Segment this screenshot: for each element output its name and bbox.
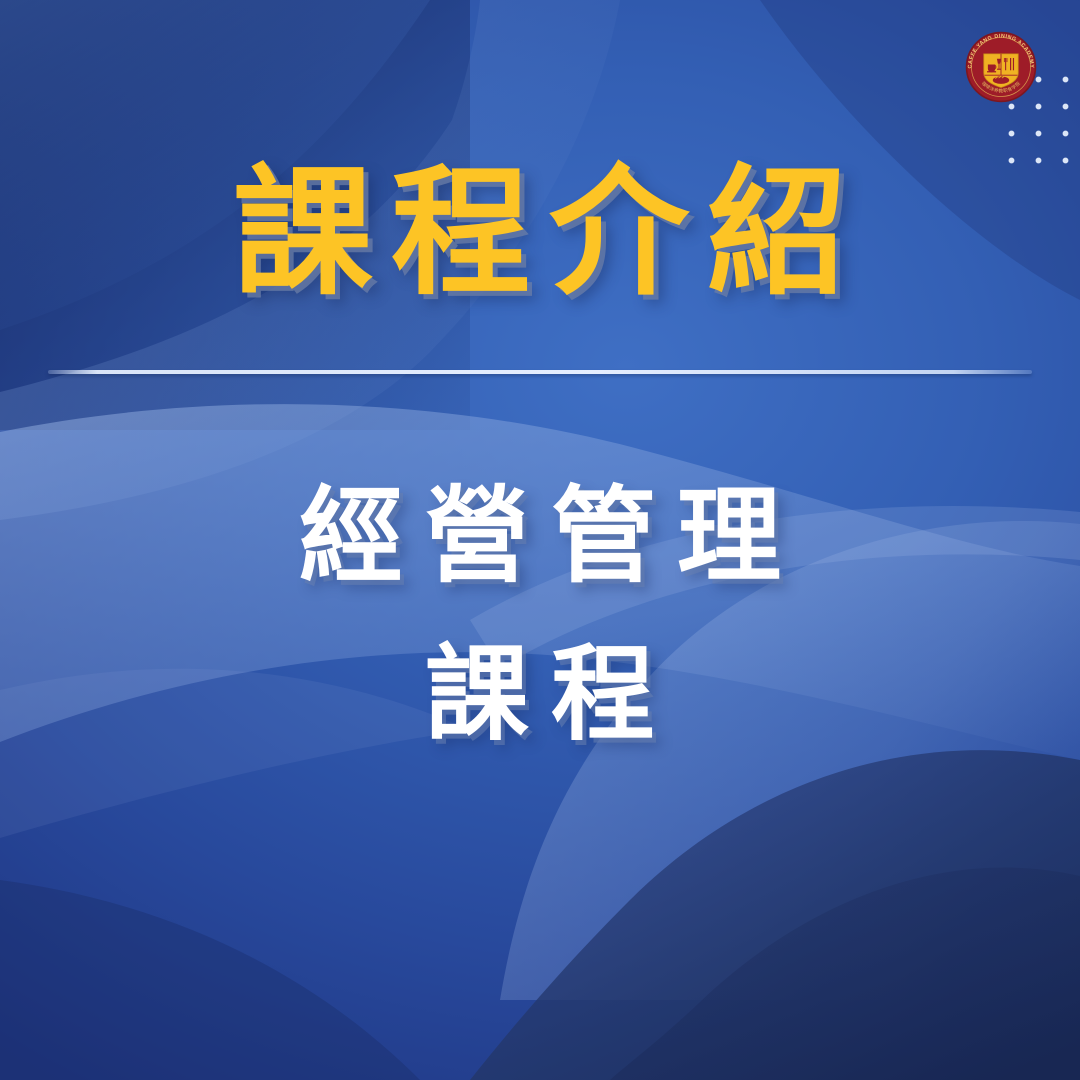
subtitle-block: 經營管理 課程 (0, 458, 1080, 774)
course-intro-slide: CAFFE YANG DINING ACADEMY 咖啡洋养教职食学院 (0, 0, 1080, 1080)
horizontal-divider (48, 370, 1032, 374)
subtitle-line-2: 課程 (0, 616, 1080, 774)
academy-logo: CAFFE YANG DINING ACADEMY 咖啡洋养教职食学院 (960, 26, 1042, 108)
page-title: 課程介紹 (215, 152, 865, 313)
title-block: 課程介紹 (0, 152, 1080, 313)
subtitle-line-1: 經營管理 (0, 458, 1080, 616)
